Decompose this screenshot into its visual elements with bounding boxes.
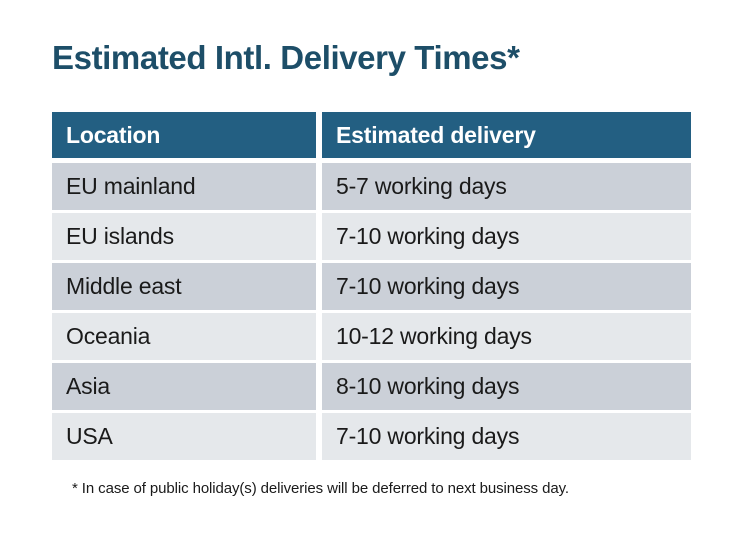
delivery-times-page: Estimated Intl. Delivery Times* Location…	[0, 0, 745, 536]
table-row: Middle east 7-10 working days	[52, 263, 691, 310]
cell-estimated-delivery: 7-10 working days	[322, 213, 691, 260]
table-row: Asia 8-10 working days	[52, 363, 691, 410]
page-title: Estimated Intl. Delivery Times*	[52, 36, 520, 80]
cell-location: EU islands	[52, 213, 316, 260]
cell-estimated-delivery: 7-10 working days	[322, 263, 691, 310]
cell-estimated-delivery: 10-12 working days	[322, 313, 691, 360]
table-row: USA 7-10 working days	[52, 413, 691, 460]
delivery-times-table: Location Estimated delivery EU mainland …	[52, 112, 691, 460]
column-header-location: Location	[52, 112, 316, 158]
table-row: EU islands 7-10 working days	[52, 213, 691, 260]
table-row: EU mainland 5-7 working days	[52, 163, 691, 210]
cell-location: Middle east	[52, 263, 316, 310]
cell-location: USA	[52, 413, 316, 460]
cell-location: Oceania	[52, 313, 316, 360]
table-header-row: Location Estimated delivery	[52, 112, 691, 158]
footnote-text: * In case of public holiday(s) deliverie…	[72, 480, 569, 497]
cell-estimated-delivery: 8-10 working days	[322, 363, 691, 410]
cell-location: EU mainland	[52, 163, 316, 210]
cell-estimated-delivery: 5-7 working days	[322, 163, 691, 210]
column-header-estimated-delivery: Estimated delivery	[322, 112, 691, 158]
cell-estimated-delivery: 7-10 working days	[322, 413, 691, 460]
table-row: Oceania 10-12 working days	[52, 313, 691, 360]
cell-location: Asia	[52, 363, 316, 410]
